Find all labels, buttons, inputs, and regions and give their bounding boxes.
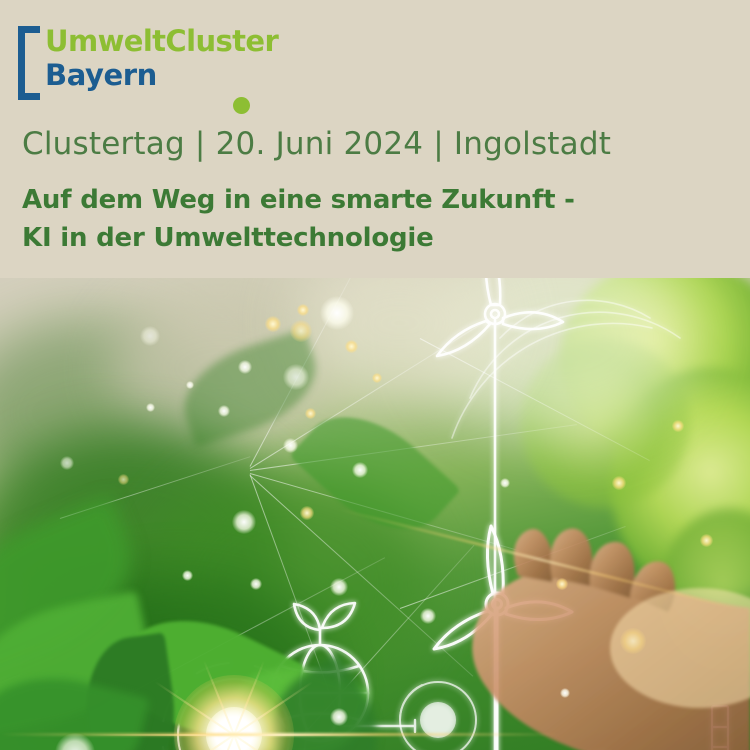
logo-dot-icon [233, 97, 250, 114]
bokeh-dot [182, 570, 193, 581]
logo-wordmark-line2: Bayern [45, 58, 157, 92]
bokeh-dot [672, 420, 684, 432]
bokeh-dot [700, 534, 713, 547]
bokeh-dot [620, 628, 646, 654]
bokeh-dot [283, 438, 298, 453]
event-subtitle-line1: Auf dem Weg in eine smarte Zukunft - [22, 181, 722, 219]
bokeh-dot [238, 360, 252, 374]
bokeh-dot [265, 316, 281, 332]
umweltcluster-bayern-logo[interactable]: UmweltCluster Bayern [18, 24, 318, 102]
bokeh-dot [345, 340, 358, 353]
event-title: Clustertag | 20. Juni 2024 | Ingolstadt [22, 126, 611, 162]
bokeh-dot [330, 708, 348, 726]
bokeh-dot [556, 578, 568, 590]
bokeh-dot [60, 456, 74, 470]
bokeh-dot [420, 608, 436, 624]
event-subtitle: Auf dem Weg in eine smarte Zukunft - KI … [22, 181, 722, 257]
bokeh-dot [118, 474, 129, 485]
bokeh-dot [232, 510, 256, 534]
hero-photo [0, 278, 750, 750]
bokeh-dot [320, 296, 354, 330]
bokeh-dot [300, 506, 314, 520]
bokeh-dot [283, 364, 309, 390]
bokeh-dot [305, 408, 316, 419]
logo-wordmark-line1: UmweltCluster [45, 24, 278, 58]
bokeh-dot [352, 462, 368, 478]
bokeh-dot [297, 304, 309, 316]
bokeh-dot [372, 373, 382, 383]
bokeh-dot [140, 326, 160, 346]
hand-finger [550, 528, 592, 586]
bokeh-dot [500, 478, 510, 488]
poster-canvas: UmweltCluster Bayern Clustertag | 20. Ju… [0, 0, 750, 750]
bokeh-dot [186, 381, 194, 389]
bokeh-dot [250, 578, 262, 590]
bokeh-dot [218, 405, 230, 417]
bokeh-dot [612, 476, 626, 490]
header-band: UmweltCluster Bayern Clustertag | 20. Ju… [0, 0, 750, 278]
logo-bracket-icon [18, 26, 40, 100]
bokeh-dot [290, 320, 312, 342]
bokeh-dot [560, 688, 570, 698]
event-subtitle-line2: KI in der Umwelttechnologie [22, 219, 722, 257]
bokeh-dot [146, 403, 155, 412]
bokeh-dot [330, 578, 348, 596]
